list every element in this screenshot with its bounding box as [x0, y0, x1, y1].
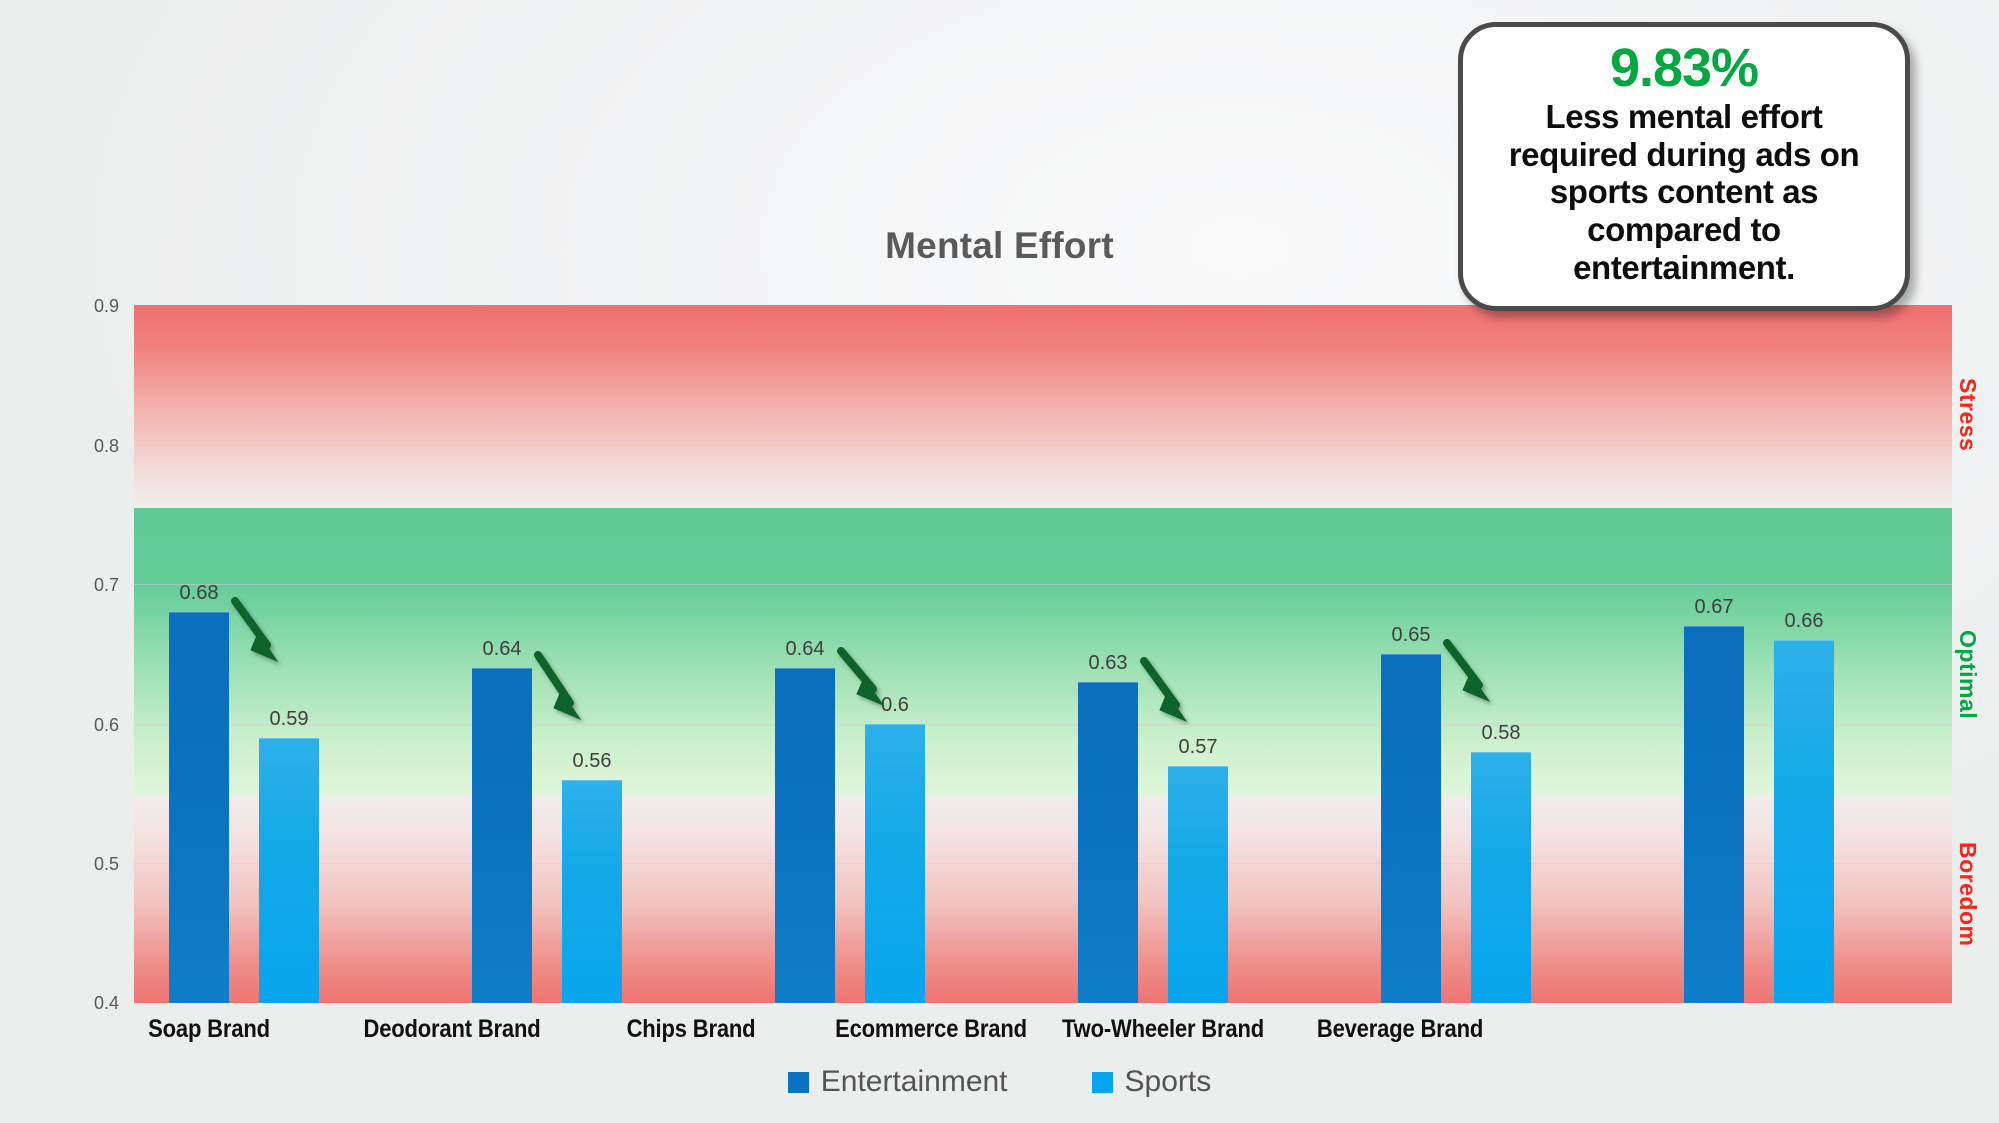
bar-sports[interactable] — [865, 724, 925, 1003]
zone-label-optimal: Optimal — [1954, 630, 1981, 719]
chart-legend: Entertainment Sports — [0, 1065, 1999, 1099]
bar-entertainment[interactable] — [169, 612, 229, 1003]
bar-sports[interactable] — [259, 738, 319, 1003]
zone-label-stress: Stress — [1954, 378, 1981, 451]
legend-swatch-icon — [1092, 1072, 1113, 1093]
bar-value-label: 0.63 — [1068, 652, 1148, 675]
bar-entertainment[interactable] — [775, 668, 835, 1003]
y-tick-label: 0.6 — [39, 715, 119, 736]
bar-group: 0.67 0.66 — [1684, 305, 1954, 1003]
y-tick-label: 0.9 — [39, 296, 119, 317]
bar-value-label: 0.67 — [1674, 596, 1754, 619]
legend-item-sports[interactable]: Sports — [1092, 1065, 1212, 1099]
plot-area: 0.68 0.59 0.64 0.56 — [134, 305, 1952, 1003]
bar-value-label: 0.59 — [249, 708, 329, 731]
bar-group: 0.65 0.58 — [1381, 305, 1651, 1003]
y-tick-label: 0.7 — [39, 575, 119, 596]
x-axis-label: Deodorant Brand — [333, 1015, 571, 1044]
x-axis-label: Ecommerce Brand — [812, 1015, 1050, 1044]
bar-group: 0.64 0.56 — [472, 305, 742, 1003]
down-arrow-icon — [227, 593, 299, 673]
bar-sports[interactable] — [1774, 640, 1834, 1003]
y-tick-label: 0.4 — [39, 993, 119, 1014]
bar-value-label: 0.58 — [1461, 722, 1541, 745]
bar-value-label: 0.6 — [855, 694, 935, 717]
legend-swatch-icon — [788, 1072, 809, 1093]
bar-sports[interactable] — [1168, 766, 1228, 1003]
bar-value-label: 0.57 — [1158, 736, 1238, 759]
legend-label: Entertainment — [821, 1065, 1008, 1099]
x-axis-label: Soap Brand — [90, 1015, 328, 1044]
y-tick-label: 0.5 — [39, 854, 119, 875]
y-tick-label: 0.8 — [39, 436, 119, 457]
bar-entertainment[interactable] — [1381, 654, 1441, 1003]
x-axis-label: Two-Wheeler Brand — [1044, 1015, 1282, 1044]
bar-value-label: 0.68 — [159, 582, 239, 605]
x-axis-label: Chips Brand — [572, 1015, 810, 1044]
bar-sports[interactable] — [1471, 752, 1531, 1003]
bar-value-label: 0.66 — [1764, 610, 1844, 633]
bar-entertainment[interactable] — [472, 668, 532, 1003]
bar-group: 0.64 0.6 — [775, 305, 1045, 1003]
bar-entertainment[interactable] — [1684, 626, 1744, 1003]
callout-percent: 9.83% — [1481, 41, 1887, 96]
insight-callout: 9.83% Less mental effort required during… — [1458, 22, 1910, 311]
bar-value-label: 0.64 — [765, 638, 845, 661]
bar-group: 0.63 0.57 — [1078, 305, 1348, 1003]
chart-canvas: Mental Effort 0.9 0.8 0.7 0.6 0.5 0.4 0.… — [0, 0, 1999, 1123]
zone-label-boredom: Boredom — [1954, 842, 1981, 946]
legend-item-entertainment[interactable]: Entertainment — [788, 1065, 1008, 1099]
x-axis-label: Beverage Brand — [1281, 1015, 1519, 1044]
bar-entertainment[interactable] — [1078, 682, 1138, 1003]
bar-sports[interactable] — [562, 780, 622, 1003]
callout-text: Less mental effort required during ads o… — [1481, 98, 1887, 286]
bar-value-label: 0.64 — [462, 638, 542, 661]
bar-group: 0.68 0.59 — [169, 305, 439, 1003]
bar-value-label: 0.56 — [552, 750, 632, 773]
legend-label: Sports — [1125, 1065, 1212, 1099]
bar-value-label: 0.65 — [1371, 624, 1451, 647]
